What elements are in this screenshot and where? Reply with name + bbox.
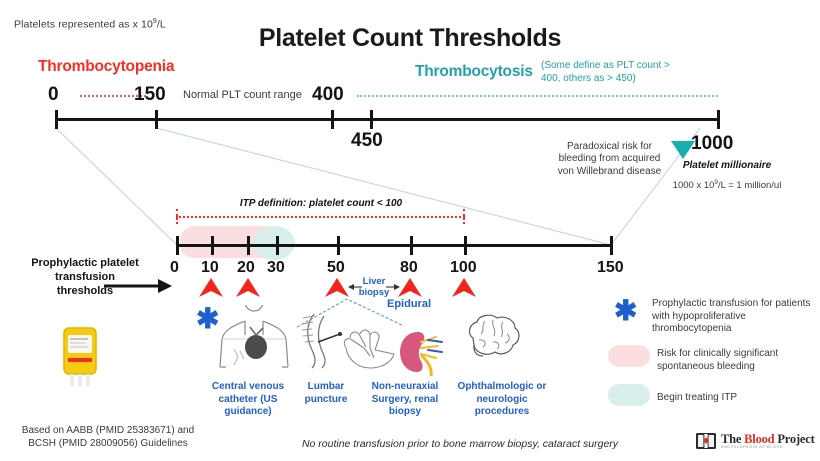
procedure-label-lp: Lumbar puncture <box>295 381 357 406</box>
hand-surgery-icon <box>340 326 396 374</box>
threshold-arrowhead-80-icon <box>398 278 422 297</box>
top-tick-label-1000: 1000 <box>691 133 733 155</box>
logo-word-the: The <box>721 432 744 446</box>
legend-asterisk-icon: ✱ <box>614 297 637 325</box>
page-title: Platelet Count Thresholds <box>0 24 820 53</box>
lower-tick-label-100: 100 <box>450 259 477 277</box>
legend-swatch-teal <box>608 384 650 406</box>
legend-text-asterisk: Prophylactic transfusion for patients wi… <box>652 298 812 336</box>
thrombocytosis-range-dots <box>357 95 718 97</box>
open-book-logo-icon <box>696 432 716 450</box>
lower-tick-label-30: 30 <box>267 259 285 277</box>
brand-logo[interactable]: The Blood Project ENCYCLOPEDIA OF BLOOD <box>696 432 815 450</box>
lower-axis-line <box>176 244 612 247</box>
itp-bracket-right-cap <box>463 209 465 224</box>
threshold-arrowhead-10-icon <box>199 278 223 297</box>
lower-tick-label-150: 150 <box>597 259 624 277</box>
threshold-arrowhead-100-icon <box>452 278 476 297</box>
no-routine-transfusion-note: No routine transfusion prior to bone mar… <box>250 438 670 450</box>
lower-tick-label-10: 10 <box>201 259 219 277</box>
itp-definition-label: ITP definition: platelet count < 100 <box>176 198 466 209</box>
top-tick-label-400: 400 <box>312 84 344 106</box>
lower-axis-tick-10 <box>211 236 214 255</box>
lower-tick-label-20: 20 <box>237 259 255 277</box>
millionaire-sub-suffix: /L = 1 million/ul <box>718 180 781 191</box>
spine-needle-icon <box>300 312 344 370</box>
legend-swatch-pink <box>608 345 650 367</box>
legend-text-teal: Begin treating ITP <box>657 392 812 405</box>
top-axis-tick-400 <box>331 110 334 129</box>
lower-axis-tick-30 <box>276 236 279 255</box>
lower-axis-tick-100 <box>464 236 467 255</box>
procedure-label-cvc: Central venous catheter (US guidance) <box>200 381 296 419</box>
top-tick-label-450: 450 <box>351 130 383 152</box>
threshold-arrowhead-20-icon <box>236 278 260 297</box>
lower-axis-tick-20 <box>247 236 250 255</box>
platelet-millionaire-sub: 1000 x 109/L = 1 million/ul <box>672 177 782 192</box>
lower-axis-tick-150 <box>610 236 613 255</box>
thrombocytopenia-label: Thrombocytopenia <box>38 58 174 76</box>
millionaire-sub-prefix: 1000 x 10 <box>673 180 715 191</box>
source-citation: Based on AABB (PMID 25383671) and BCSH (… <box>8 424 208 450</box>
lower-axis-tick-80 <box>410 236 413 255</box>
itp-bracket-line <box>176 216 465 218</box>
itp-bracket-left-cap <box>176 209 178 224</box>
normal-range-label: Normal PLT count range <box>183 89 302 101</box>
top-tick-label-150: 150 <box>134 84 166 106</box>
lower-axis-tick-0 <box>176 236 179 255</box>
thrombocytosis-note: (Some define as PLT count > 400, others … <box>541 60 691 85</box>
lower-axis-tick-50 <box>337 236 340 255</box>
right-arrow-icon <box>104 278 172 294</box>
platelet-millionaire-label: Platelet millionaire <box>672 160 782 171</box>
logo-word-project: Project <box>774 432 814 446</box>
platelet-bag-icon <box>56 325 104 391</box>
infographic-canvas: Platelets represented as x 109/L Platele… <box>0 0 820 461</box>
teal-itp-band <box>253 226 295 260</box>
top-axis-tick-450 <box>370 110 373 129</box>
lower-tick-label-80: 80 <box>400 259 418 277</box>
brain-icon <box>463 312 523 364</box>
top-axis-tick-150 <box>155 110 158 129</box>
legend-text-pink: Risk for clinically significant spontane… <box>657 348 812 373</box>
top-tick-label-0: 0 <box>48 84 59 106</box>
procedure-label-neuro: Ophthalmologic or neurologic procedures <box>452 381 552 419</box>
lower-tick-label-0: 0 <box>170 259 179 277</box>
top-axis-tick-1000 <box>717 110 720 129</box>
logo-word-blood: Blood <box>744 432 774 446</box>
procedure-label-surgery: Non-neuraxial Surgery, renal biopsy <box>357 381 453 419</box>
teal-down-triangle-icon <box>670 140 696 160</box>
liver-biopsy-label: Liver biopsy <box>352 276 396 298</box>
torso-central-line-icon <box>216 305 292 371</box>
kidney-biopsy-icon <box>398 330 444 376</box>
paradoxical-risk-note: Paradoxical risk for bleeding from acqui… <box>553 141 666 178</box>
lower-tick-label-50: 50 <box>327 259 345 277</box>
brand-logo-text: The Blood Project <box>721 433 815 445</box>
thrombocytosis-label: Thrombocytosis <box>415 63 533 81</box>
threshold-arrowhead-50-icon <box>325 278 349 297</box>
top-axis-tick-0 <box>55 110 58 129</box>
